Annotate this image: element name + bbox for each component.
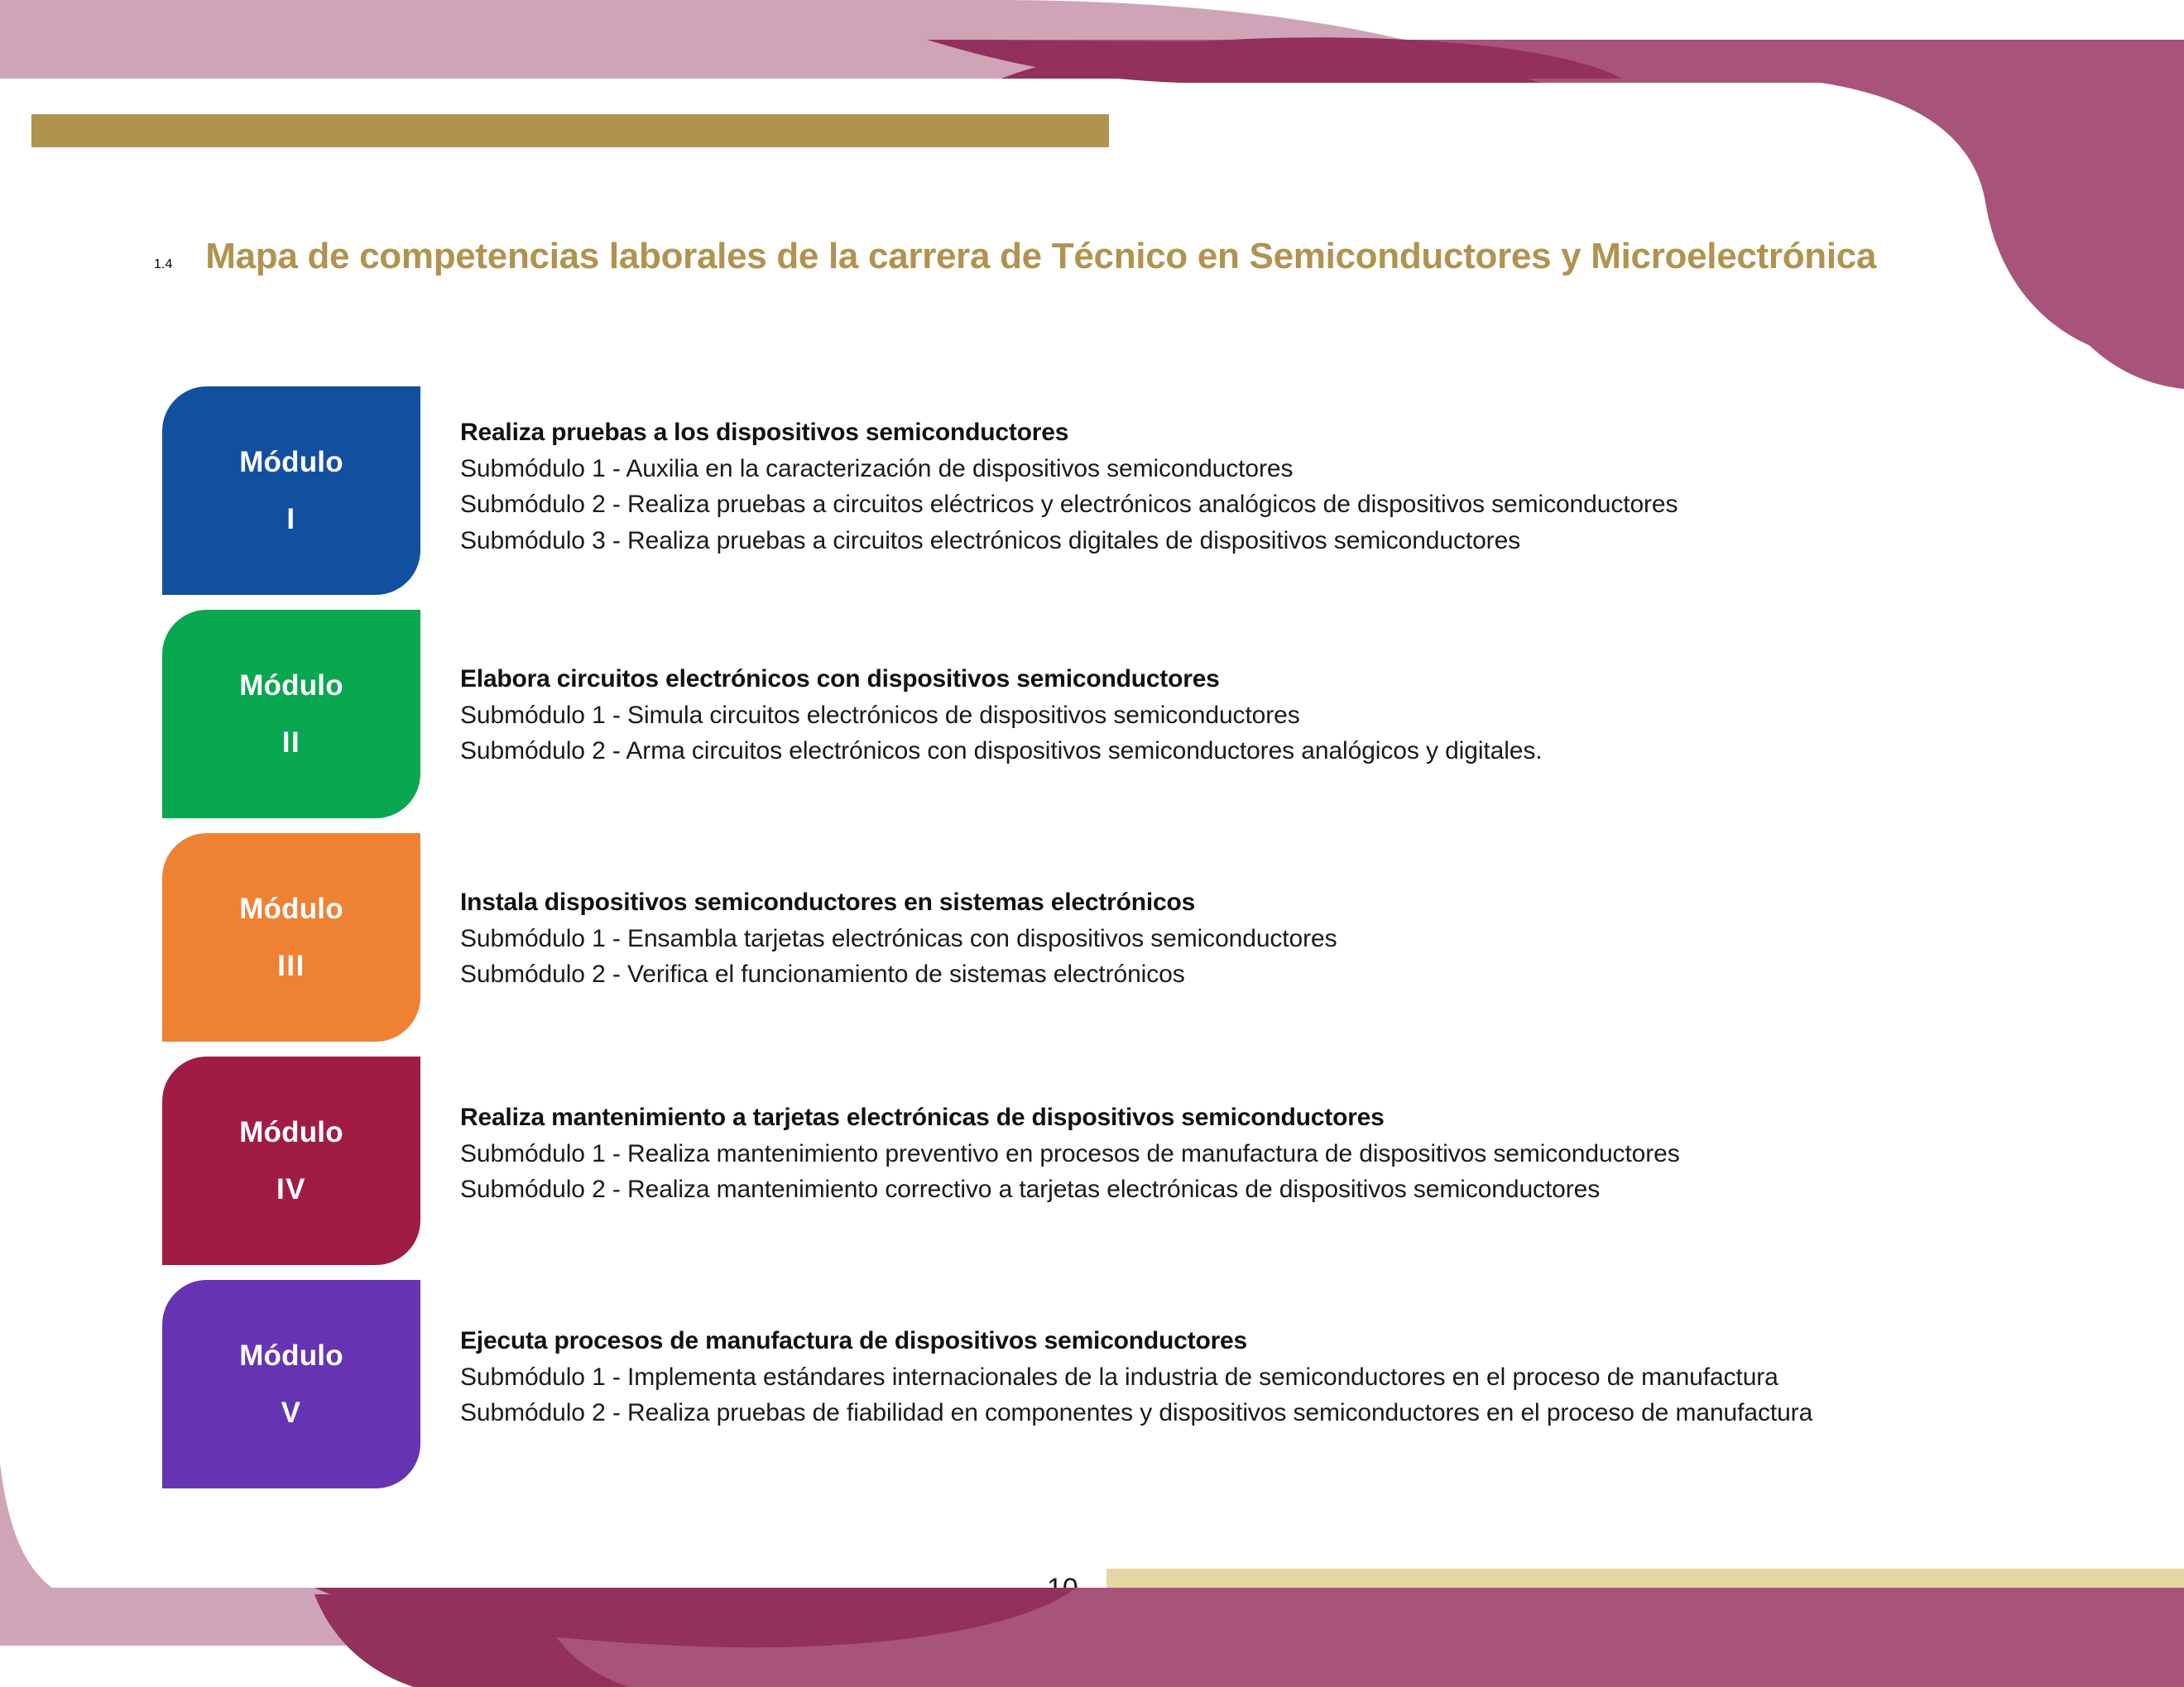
module-chip-ii[interactable]: Módulo II — [162, 610, 420, 818]
footer-decoration — [0, 1340, 2184, 1687]
page-title: 1.4 Mapa de competencias laborales de la… — [154, 236, 1876, 277]
header-decoration — [0, 0, 2184, 430]
module-title: Realiza pruebas a los dispositivos semic… — [460, 415, 2041, 451]
module-chip-roman: I — [286, 505, 295, 534]
module-row: Módulo I Realiza pruebas a los dispositi… — [162, 386, 2041, 595]
module-description: Realiza pruebas a los dispositivos semic… — [420, 386, 2041, 558]
module-description: Elabora circuitos electrónicos con dispo… — [420, 610, 2041, 769]
module-submodule: Submódulo 2 - Arma circuitos electrónico… — [460, 733, 2041, 769]
module-chip-roman: IV — [276, 1175, 306, 1204]
module-submodule: Submódulo 1 - Simula circuitos electróni… — [460, 697, 2041, 734]
module-submodule: Submódulo 3 - Realiza pruebas a circuito… — [460, 523, 2041, 559]
module-title: Elabora circuitos electrónicos con dispo… — [460, 661, 2041, 697]
header-ribbon-graphic — [0, 0, 2184, 430]
module-submodule: Submódulo 2 - Realiza pruebas a circuito… — [460, 486, 2041, 523]
module-title: Realiza mantenimiento a tarjetas electró… — [460, 1100, 2041, 1136]
module-chip-iv[interactable]: Módulo IV — [162, 1057, 420, 1265]
module-submodule: Submódulo 1 - Ensambla tarjetas electrón… — [460, 921, 2041, 957]
module-title: Instala dispositivos semiconductores en … — [460, 884, 2041, 921]
module-chip-roman: III — [277, 951, 305, 980]
module-submodule: Submódulo 1 - Auxilia en la caracterizac… — [460, 451, 2041, 487]
module-description: Realiza mantenimiento a tarjetas electró… — [420, 1057, 2041, 1208]
module-chip-iii[interactable]: Módulo III — [162, 833, 420, 1042]
page-title-text: Mapa de competencias laborales de la car… — [205, 236, 1876, 277]
module-chip-i[interactable]: Módulo I — [162, 386, 420, 595]
module-submodule: Submódulo 1 - Realiza mantenimiento prev… — [460, 1136, 2041, 1172]
module-row: Módulo III Instala dispositivos semicond… — [162, 833, 2041, 1042]
module-chip-roman: II — [282, 728, 300, 757]
module-description: Instala dispositivos semiconductores en … — [420, 833, 2041, 993]
module-row: Módulo II Elabora circuitos electrónicos… — [162, 610, 2041, 818]
header-band-pink-rect — [0, 0, 993, 79]
module-row: Módulo IV Realiza mantenimiento a tarjet… — [162, 1057, 2041, 1265]
module-chip-label: Módulo — [239, 448, 343, 477]
module-submodule: Submódulo 2 - Verifica el funcionamiento… — [460, 956, 2041, 993]
page-title-number: 1.4 — [154, 257, 172, 272]
footer-band-maroon-rect — [910, 1588, 2184, 1687]
module-submodule: Submódulo 2 - Realiza mantenimiento corr… — [460, 1172, 2041, 1208]
footer-ribbon-graphic — [0, 1340, 2184, 1687]
module-chip-label: Módulo — [239, 894, 343, 923]
header-gold-bar — [31, 114, 1109, 147]
document-page: 1.4 Mapa de competencias laborales de la… — [0, 0, 2184, 1687]
competency-module-list: Módulo I Realiza pruebas a los dispositi… — [162, 386, 2041, 1503]
module-chip-label: Módulo — [239, 671, 343, 700]
module-chip-label: Módulo — [239, 1118, 343, 1147]
